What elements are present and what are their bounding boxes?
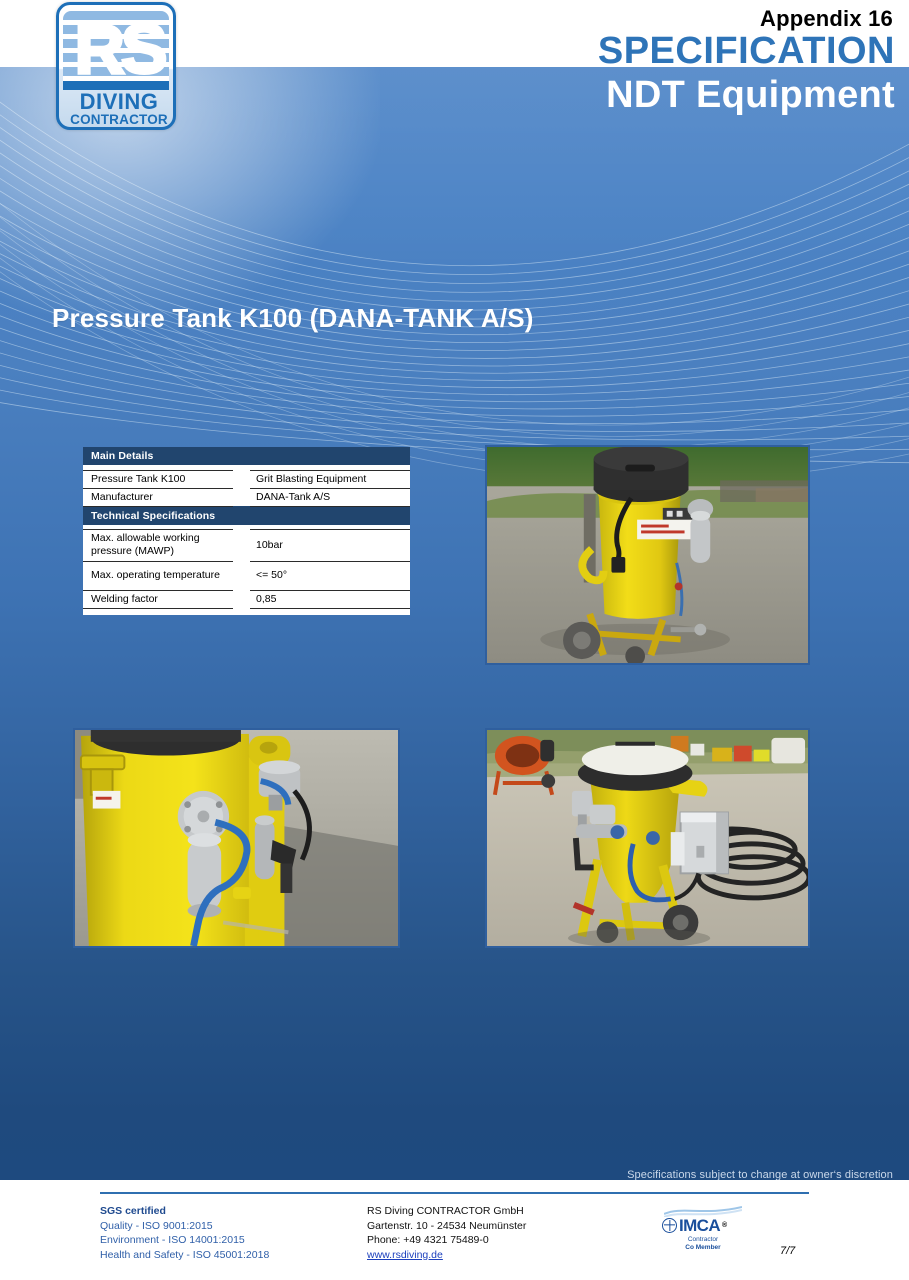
row-value: DANA-Tank A/S	[250, 488, 410, 506]
specification-table: Main Details Pressure Tank K100 Grit Bla…	[83, 447, 410, 615]
row-spacer	[233, 561, 250, 590]
imca-wordmark: IMCA	[679, 1217, 720, 1234]
table-section-header-technical-specifications: Technical Specifications	[83, 506, 410, 525]
imca-membership-text: Contractor Co Member	[660, 1236, 746, 1252]
table-row: Max. operating temperature <= 50°	[83, 561, 410, 590]
appendix-label: Appendix 16	[760, 6, 893, 32]
equipment-photo-2	[73, 728, 400, 948]
company-website-link[interactable]: www.rsdiving.de	[367, 1249, 443, 1261]
row-value: 10bar	[250, 530, 410, 561]
registered-mark-icon: ®	[722, 1222, 727, 1229]
row-spacer	[233, 530, 250, 561]
background-wave-pattern	[0, 67, 909, 487]
sgs-line-quality: Quality - ISO 9001:2015	[100, 1219, 269, 1234]
globe-icon	[662, 1218, 677, 1233]
footer-divider	[100, 1192, 809, 1194]
row-label: Pressure Tank K100	[83, 470, 233, 488]
sgs-title: SGS certified	[100, 1204, 269, 1219]
logo-monogram: RS	[59, 7, 176, 91]
table-row: Manufacturer DANA-Tank A/S	[83, 488, 410, 506]
table-row: Max. allowable working pressure (MAWP) 1…	[83, 530, 410, 561]
row-spacer	[233, 470, 250, 488]
equipment-photo-1	[485, 445, 810, 665]
row-label: Max. operating temperature	[83, 561, 233, 590]
row-value: <= 50°	[250, 561, 410, 590]
imca-logo: IMCA ® Contractor Co Member	[660, 1203, 746, 1255]
company-address: Gartenstr. 10 - 24534 Neumünster	[367, 1219, 526, 1234]
table-trailing-row	[83, 608, 410, 615]
page-number: 7/7	[780, 1245, 795, 1257]
footer-certifications: SGS certified Quality - ISO 9001:2015 En…	[100, 1204, 269, 1262]
row-spacer	[233, 590, 250, 608]
table-row: Pressure Tank K100 Grit Blasting Equipme…	[83, 470, 410, 488]
table-row: Welding factor 0,85	[83, 590, 410, 608]
row-label: Welding factor	[83, 590, 233, 608]
header-title-ndt-equipment: NDT Equipment	[606, 76, 895, 114]
company-phone: Phone: +49 4321 75489-0	[367, 1233, 526, 1248]
imca-sub-contractor: Contractor	[660, 1236, 746, 1244]
rs-diving-logo: RS DIVING CONTRACTOR	[56, 2, 176, 130]
logo-text-contractor: CONTRACTOR	[59, 112, 176, 127]
sgs-line-environment: Environment - ISO 14001:2015	[100, 1233, 269, 1248]
company-name: RS Diving CONTRACTOR GmbH	[367, 1204, 526, 1219]
equipment-photo-3	[485, 728, 810, 948]
sgs-line-health-safety: Health and Safety - ISO 45001:2018	[100, 1248, 269, 1263]
logo-frame: RS DIVING CONTRACTOR	[56, 2, 176, 130]
row-value: Grit Blasting Equipment	[250, 470, 410, 488]
section-heading-label: Technical Specifications	[83, 506, 410, 525]
footer-company-contact: RS Diving CONTRACTOR GmbH Gartenstr. 10 …	[367, 1204, 526, 1262]
row-value: 0,85	[250, 590, 410, 608]
imca-sub-comember: Co Member	[660, 1244, 746, 1252]
row-spacer	[233, 488, 250, 506]
row-label: Max. allowable working pressure (MAWP)	[83, 530, 233, 561]
imca-wordmark-row: IMCA ®	[662, 1214, 746, 1236]
header-title-specification: SPECIFICATION	[598, 32, 895, 70]
table-section-header-main-details: Main Details	[83, 447, 410, 465]
document-page: Appendix 16 SPECIFICATION NDT Equipment …	[0, 0, 909, 1280]
row-label: Manufacturer	[83, 488, 233, 506]
section-heading-label: Main Details	[83, 447, 410, 465]
page-title: Pressure Tank K100 (DANA-TANK A/S)	[52, 303, 534, 334]
